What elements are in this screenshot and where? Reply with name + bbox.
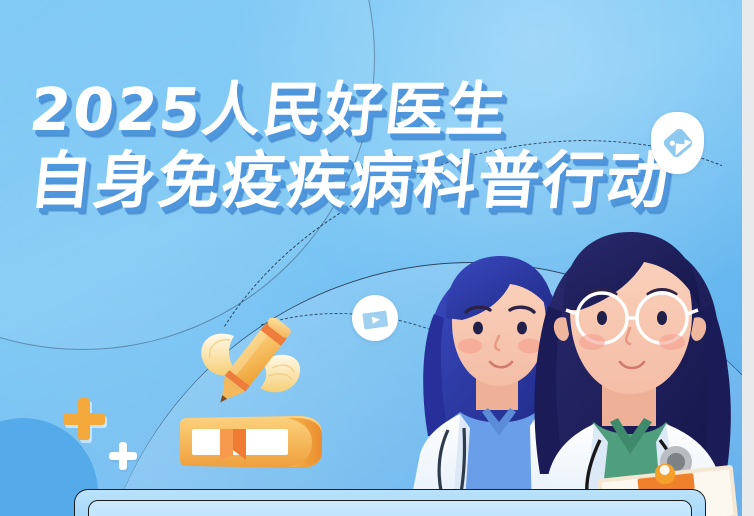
plus-icon xyxy=(109,442,137,470)
right-edge-strip xyxy=(742,0,754,516)
female-doctor-right xyxy=(534,232,738,516)
book-icon xyxy=(176,412,328,474)
poster-root: 2025人民好医生 自身免疫疾病科普行动 xyxy=(0,0,754,516)
plus-icon xyxy=(63,398,105,440)
image-icon xyxy=(651,112,704,174)
doctors-illustration xyxy=(404,214,742,516)
bottom-card-panel-inner xyxy=(88,500,692,516)
video-icon xyxy=(352,295,398,341)
